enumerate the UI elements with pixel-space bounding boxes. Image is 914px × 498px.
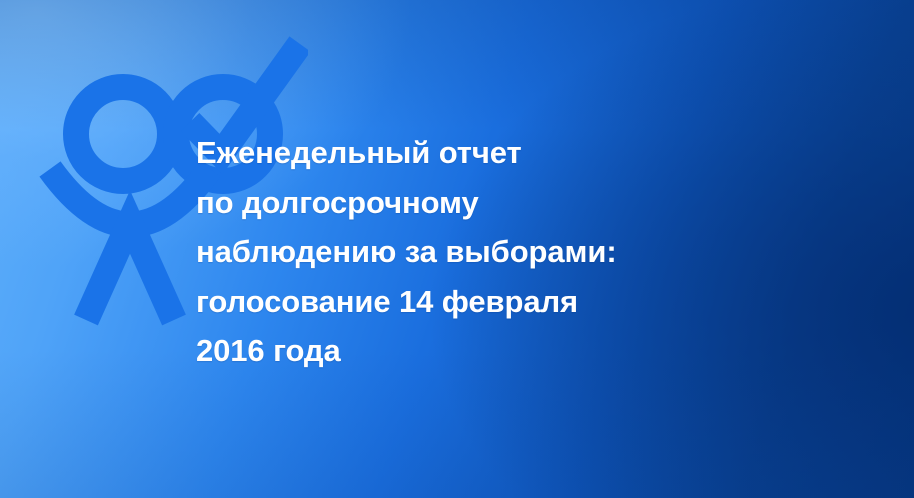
title-line-1: Еженедельный отчет xyxy=(196,128,896,178)
title-line-4: голосование 14 февраля xyxy=(196,277,896,327)
title-line-3: наблюдению за выборами: xyxy=(196,227,896,277)
page-title: Еженедельный отчет по долгосрочному набл… xyxy=(196,128,896,376)
logo-circle-head xyxy=(76,87,170,181)
title-banner: Еженедельный отчет по долгосрочному набл… xyxy=(0,0,914,498)
title-line-5: 2016 года xyxy=(196,326,896,376)
title-line-2: по долгосрочному xyxy=(196,178,896,228)
logo-legs xyxy=(86,222,174,320)
